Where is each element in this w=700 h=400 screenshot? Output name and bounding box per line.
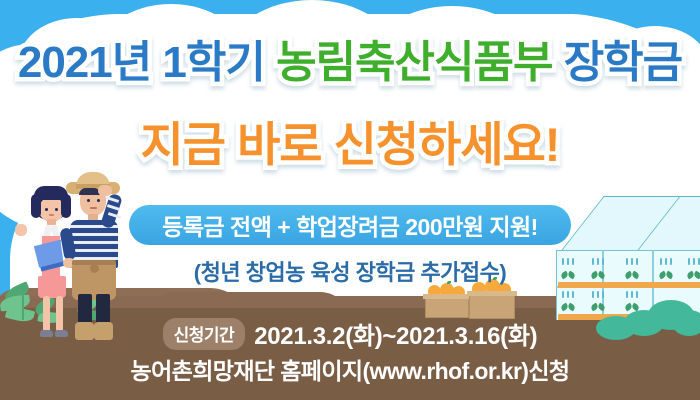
headline-scholarship: 장학금 bbox=[552, 38, 682, 87]
headline-cta: 지금 바로 신청하세요! bbox=[0, 106, 700, 175]
application-period-row: 신청기간 2021.3.2(화)~2021.3.16(화) bbox=[0, 316, 700, 351]
apply-url-text: 농어촌희망재단 홈페이지(www.rhof.or.kr)신청 bbox=[0, 352, 700, 386]
benefit-pill: 등록금 전액 + 학업장려금 200만원 지원! bbox=[129, 205, 571, 245]
subnote-text: (청년 창업농 육성 장학금 추가접수) bbox=[0, 255, 700, 287]
benefit-pill-label: 등록금 전액 + 학업장려금 200만원 지원! bbox=[162, 208, 538, 242]
mister-dots bbox=[592, 291, 608, 299]
period-value: 2021.3.2(화)~2021.3.16(화) bbox=[254, 316, 537, 351]
period-badge: 신청기간 bbox=[163, 318, 246, 350]
headline-semester: 2021년 1학기 bbox=[18, 38, 276, 87]
headline-primary: 2021년 1학기 농림축산식품부 장학금 bbox=[0, 26, 700, 90]
headline-ministry: 농림축산식품부 bbox=[276, 38, 552, 87]
mister-dots bbox=[626, 291, 642, 299]
seedling bbox=[591, 302, 605, 312]
mister-dots bbox=[562, 291, 578, 299]
scholarship-banner: 2021년 1학기 농림축산식품부 장학금 지금 바로 신청하세요! 등록금 전… bbox=[0, 0, 700, 400]
seedling bbox=[561, 302, 575, 312]
